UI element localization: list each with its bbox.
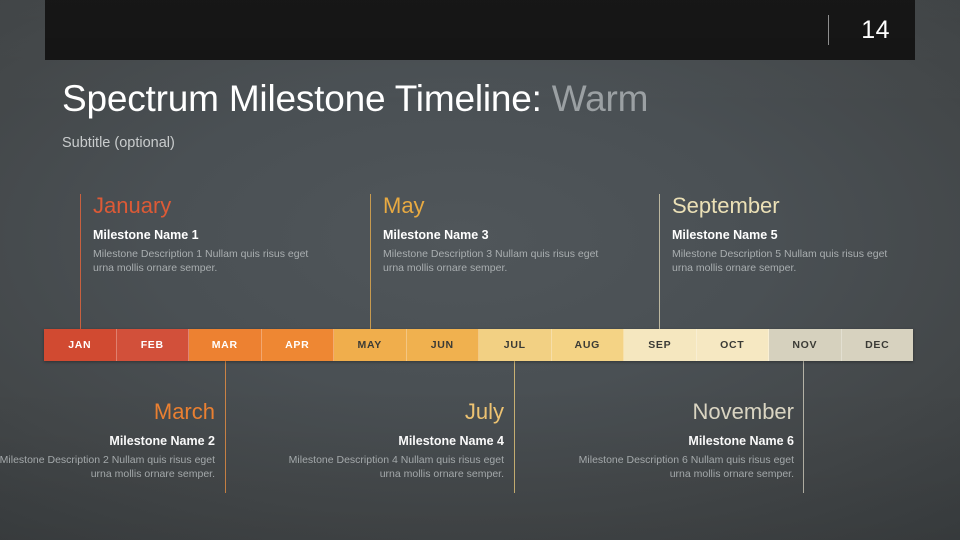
- timeline-month-aug[interactable]: AUG: [552, 329, 625, 361]
- milestone-month-label: November: [569, 400, 794, 423]
- timeline-month-label: AUG: [575, 339, 600, 351]
- milestone-march: MarchMilestone Name 2Milestone Descripti…: [0, 400, 215, 482]
- milestone-january: JanuaryMilestone Name 1Milestone Descrip…: [93, 194, 318, 276]
- milestone-november: NovemberMilestone Name 6Milestone Descri…: [569, 400, 794, 482]
- milestone-description: Milestone Description 6 Nullam quis risu…: [569, 453, 794, 482]
- timeline-month-jul[interactable]: JUL: [479, 329, 552, 361]
- timeline-month-dec[interactable]: DEC: [842, 329, 914, 361]
- timeline-month-jan[interactable]: JAN: [44, 329, 117, 361]
- connector-line-november: [803, 361, 804, 493]
- header-divider: [828, 15, 829, 45]
- timeline-month-mar[interactable]: MAR: [189, 329, 262, 361]
- page-subtitle: Subtitle (optional): [62, 135, 175, 151]
- milestone-month-label: September: [672, 194, 897, 217]
- milestone-name: Milestone Name 4: [279, 434, 504, 450]
- milestone-may: MayMilestone Name 3Milestone Description…: [383, 194, 608, 276]
- timeline-month-label: SEP: [648, 339, 671, 351]
- milestone-name: Milestone Name 1: [93, 228, 318, 244]
- milestone-name: Milestone Name 6: [569, 434, 794, 450]
- timeline-month-nov[interactable]: NOV: [769, 329, 842, 361]
- milestone-name: Milestone Name 2: [0, 434, 215, 450]
- page-number: 14: [861, 18, 890, 43]
- connector-line-july: [514, 361, 515, 493]
- connector-line-january: [80, 194, 81, 329]
- page-title-main: Spectrum Milestone Timeline:: [62, 78, 542, 119]
- timeline-month-label: MAY: [358, 339, 382, 351]
- timeline-month-label: DEC: [865, 339, 889, 351]
- timeline-bar[interactable]: JANFEBMARAPRMAYJUNJULAUGSEPOCTNOVDEC: [44, 329, 913, 361]
- timeline-month-label: APR: [285, 339, 309, 351]
- timeline-month-oct[interactable]: OCT: [697, 329, 770, 361]
- timeline-month-sep[interactable]: SEP: [624, 329, 697, 361]
- milestone-description: Milestone Description 4 Nullam quis risu…: [279, 453, 504, 482]
- timeline-month-label: JUN: [431, 339, 454, 351]
- milestone-description: Milestone Description 1 Nullam quis risu…: [93, 247, 318, 276]
- page-title-accent: Warm: [552, 78, 648, 119]
- timeline-month-label: JAN: [68, 339, 91, 351]
- slide-canvas: 14 Spectrum Milestone Timeline: Warm Sub…: [0, 0, 960, 540]
- timeline-month-label: MAR: [212, 339, 238, 351]
- milestone-month-label: July: [279, 400, 504, 423]
- milestone-description: Milestone Description 5 Nullam quis risu…: [672, 247, 897, 276]
- slide-header-bar: 14: [45, 0, 915, 60]
- milestone-july: JulyMilestone Name 4Milestone Descriptio…: [279, 400, 504, 482]
- timeline-month-apr[interactable]: APR: [262, 329, 335, 361]
- timeline-month-jun[interactable]: JUN: [407, 329, 480, 361]
- milestone-month-label: March: [0, 400, 215, 423]
- page-title: Spectrum Milestone Timeline: Warm: [62, 78, 648, 120]
- connector-line-march: [225, 361, 226, 493]
- milestone-description: Milestone Description 2 Nullam quis risu…: [0, 453, 215, 482]
- timeline-month-feb[interactable]: FEB: [117, 329, 190, 361]
- milestone-month-label: January: [93, 194, 318, 217]
- connector-line-may: [370, 194, 371, 329]
- milestone-name: Milestone Name 3: [383, 228, 608, 244]
- timeline-month-label: FEB: [141, 339, 164, 351]
- milestone-month-label: May: [383, 194, 608, 217]
- timeline-month-label: NOV: [792, 339, 817, 351]
- timeline-month-may[interactable]: MAY: [334, 329, 407, 361]
- timeline-month-label: JUL: [504, 339, 526, 351]
- timeline-month-label: OCT: [720, 339, 744, 351]
- milestone-september: SeptemberMilestone Name 5Milestone Descr…: [672, 194, 897, 276]
- milestone-description: Milestone Description 3 Nullam quis risu…: [383, 247, 608, 276]
- connector-line-september: [659, 194, 660, 329]
- milestone-name: Milestone Name 5: [672, 228, 897, 244]
